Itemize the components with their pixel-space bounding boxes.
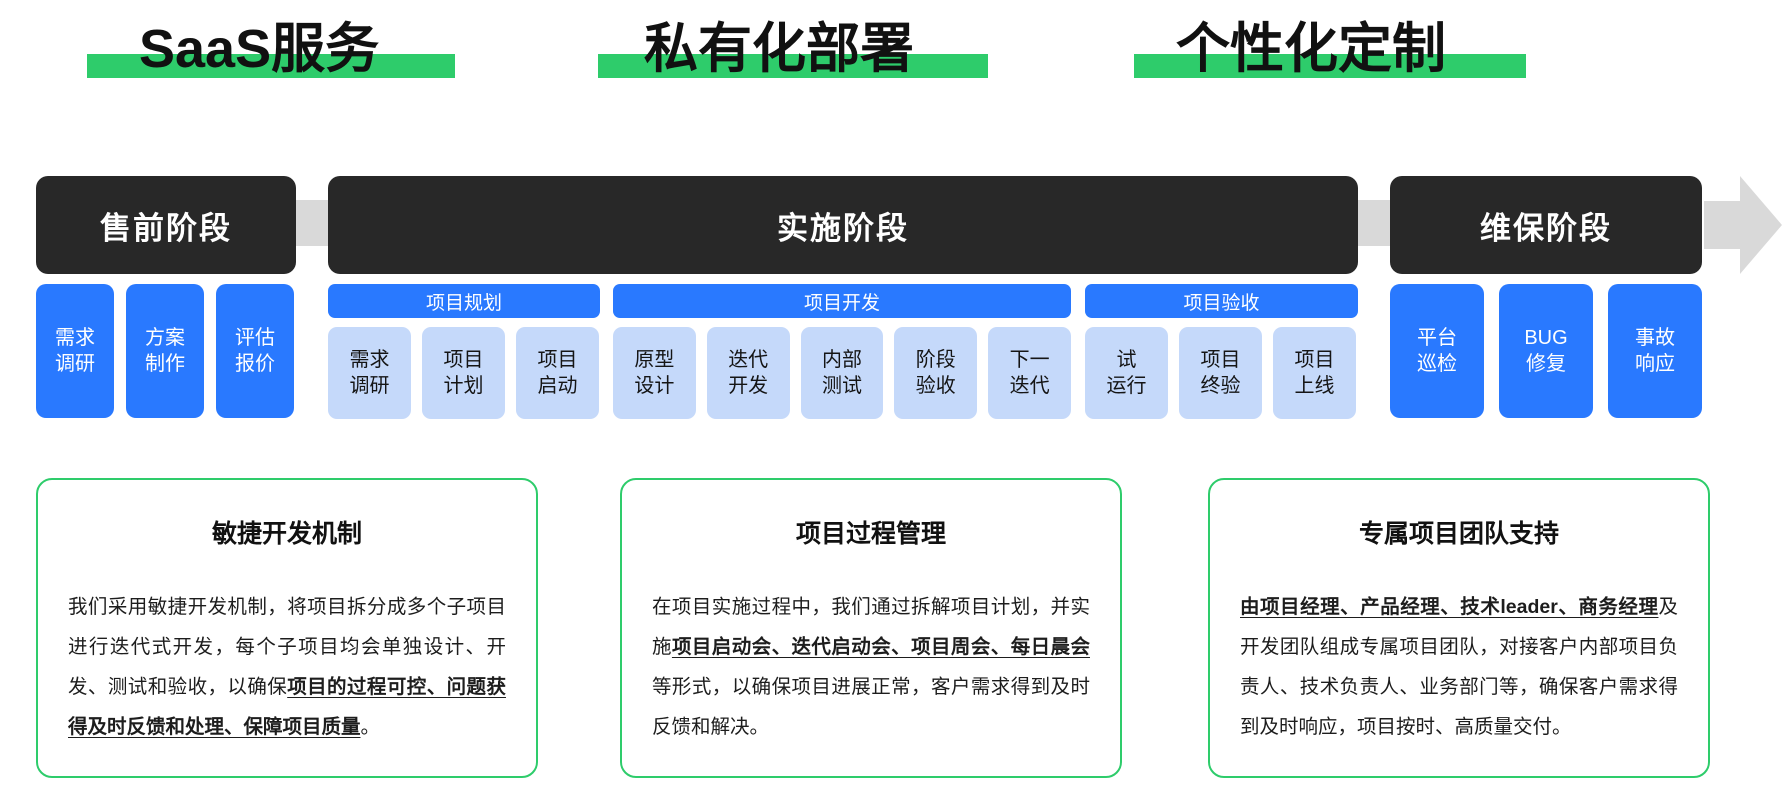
impl-group-planning: 项目规划 需求 调研 项目 计划 项目 启动 bbox=[328, 284, 600, 419]
stage-label-line1: 平台 bbox=[1417, 325, 1457, 351]
phase-band: 售前阶段 实施阶段 维保阶段 bbox=[0, 170, 1792, 280]
stage-label-line2: 响应 bbox=[1635, 351, 1675, 377]
stage-label-line2: 计划 bbox=[444, 373, 484, 399]
stage-label-line1: 迭代 bbox=[728, 347, 768, 373]
impl-stage-box[interactable]: 试 运行 bbox=[1085, 327, 1168, 419]
impl-stage-box[interactable]: 项目 终验 bbox=[1179, 327, 1262, 419]
phase-presales[interactable]: 售前阶段 bbox=[36, 176, 296, 274]
arrow-stem bbox=[1704, 201, 1744, 249]
stage-label-line1: 需求 bbox=[55, 325, 95, 351]
impl-stage-box[interactable]: 项目 启动 bbox=[516, 327, 599, 419]
impl-group-header[interactable]: 项目验收 bbox=[1085, 284, 1358, 318]
impl-group-row: 需求 调研 项目 计划 项目 启动 bbox=[328, 327, 600, 419]
impl-stage-box[interactable]: 迭代 开发 bbox=[707, 327, 790, 419]
heading-customization: 个性化定制 bbox=[1172, 22, 1450, 76]
stages-band: 需求 调研 方案 制作 评估 报价 项目规划 需求 调研 项目 计划 项目 启动 bbox=[0, 284, 1792, 429]
presales-stage-box[interactable]: 评估 报价 bbox=[216, 284, 294, 418]
stage-label-line2: 制作 bbox=[145, 351, 185, 377]
card-body: 我们采用敏捷开发机制，将项目拆分成多个子项目进行迭代式开发，每个子项目均会单独设… bbox=[68, 588, 506, 748]
stage-label-line1: 项目 bbox=[538, 347, 578, 373]
impl-stage-box[interactable]: 下一 迭代 bbox=[988, 327, 1071, 419]
impl-group-title: 项目开发 bbox=[804, 288, 880, 315]
impl-stage-box[interactable]: 需求 调研 bbox=[328, 327, 411, 419]
phase-label: 实施阶段 bbox=[777, 203, 909, 248]
stage-label-line1: 项目 bbox=[1295, 347, 1335, 373]
impl-group-header[interactable]: 项目规划 bbox=[328, 284, 600, 318]
impl-group-title: 项目验收 bbox=[1183, 288, 1259, 315]
maintenance-stage-box[interactable]: BUG 修复 bbox=[1499, 284, 1593, 418]
stage-label-line1: 阶段 bbox=[916, 347, 956, 373]
phase-label: 维保阶段 bbox=[1480, 203, 1612, 248]
stage-label-line2: 运行 bbox=[1107, 373, 1147, 399]
impl-stage-box[interactable]: 原型 设计 bbox=[613, 327, 696, 419]
stage-label-line2: 开发 bbox=[728, 373, 768, 399]
arrow-head bbox=[1740, 176, 1782, 274]
stage-label-line1: 原型 bbox=[634, 347, 674, 373]
stage-label-line1: 事故 bbox=[1635, 325, 1675, 351]
stage-label-line2: 迭代 bbox=[1010, 373, 1050, 399]
stage-label-line1: 评估 bbox=[235, 325, 275, 351]
stage-label-line1: 方案 bbox=[145, 325, 185, 351]
stage-label-line1: 试 bbox=[1117, 347, 1137, 373]
phase-maintenance[interactable]: 维保阶段 bbox=[1390, 176, 1702, 274]
stage-label-line1: 需求 bbox=[350, 347, 390, 373]
maintenance-stage-box[interactable]: 平台 巡检 bbox=[1390, 284, 1484, 418]
stage-label-line2: 巡检 bbox=[1417, 351, 1457, 377]
card-body-emphasis: 项目启动会、迭代启动会、项目周会、每日晨会 bbox=[672, 636, 1090, 658]
impl-stage-box[interactable]: 项目 计划 bbox=[422, 327, 505, 419]
impl-stage-box[interactable]: 内部 测试 bbox=[801, 327, 884, 419]
stage-label-line2: 报价 bbox=[235, 351, 275, 377]
heading-text: 私有化部署 bbox=[640, 22, 918, 76]
card-title: 专属项目团队支持 bbox=[1240, 514, 1678, 550]
stage-label-line1: BUG bbox=[1524, 325, 1567, 351]
card-body: 在项目实施过程中，我们通过拆解项目计划，并实施项目启动会、迭代启动会、项目周会、… bbox=[652, 588, 1090, 748]
feature-card-process: 项目过程管理 在项目实施过程中，我们通过拆解项目计划，并实施项目启动会、迭代启动… bbox=[620, 478, 1122, 778]
heading-saas: SaaS服务 bbox=[135, 22, 383, 76]
card-body-emphasis: 由项目经理、产品经理、技术leader、商务经理 bbox=[1240, 596, 1658, 618]
stage-label-line1: 下一 bbox=[1010, 347, 1050, 373]
stage-label-line1: 项目 bbox=[1201, 347, 1241, 373]
feature-card-agile: 敏捷开发机制 我们采用敏捷开发机制，将项目拆分成多个子项目进行迭代式开发，每个子… bbox=[36, 478, 538, 778]
presales-stage-box[interactable]: 需求 调研 bbox=[36, 284, 114, 418]
stage-label-line1: 项目 bbox=[444, 347, 484, 373]
feature-card-team: 专属项目团队支持 由项目经理、产品经理、技术leader、商务经理及开发团队组成… bbox=[1208, 478, 1710, 778]
phase-implementation[interactable]: 实施阶段 bbox=[328, 176, 1358, 274]
stage-label-line1: 内部 bbox=[822, 347, 862, 373]
timeline-arrow-icon bbox=[1704, 176, 1780, 274]
stage-label-line2: 启动 bbox=[538, 373, 578, 399]
maintenance-stage-box[interactable]: 事故 响应 bbox=[1608, 284, 1702, 418]
headings-row: SaaS服务 私有化部署 个性化定制 bbox=[0, 0, 1792, 118]
card-body-text: 。 bbox=[361, 716, 381, 738]
impl-group-acceptance: 项目验收 试 运行 项目 终验 项目 上线 bbox=[1085, 284, 1358, 419]
card-body: 由项目经理、产品经理、技术leader、商务经理及开发团队组成专属项目团队，对接… bbox=[1240, 588, 1678, 748]
impl-group-row: 原型 设计 迭代 开发 内部 测试 阶段 验收 下一 迭代 bbox=[613, 327, 1071, 419]
heading-text: SaaS服务 bbox=[135, 22, 383, 76]
impl-group-title: 项目规划 bbox=[426, 288, 502, 315]
card-title: 敏捷开发机制 bbox=[68, 514, 506, 550]
heading-private-deploy: 私有化部署 bbox=[640, 22, 918, 76]
stage-label-line2: 修复 bbox=[1526, 351, 1566, 377]
impl-group-row: 试 运行 项目 终验 项目 上线 bbox=[1085, 327, 1358, 419]
stage-label-line2: 上线 bbox=[1295, 373, 1335, 399]
phase-label: 售前阶段 bbox=[100, 203, 232, 248]
stage-label-line2: 调研 bbox=[55, 351, 95, 377]
heading-text: 个性化定制 bbox=[1172, 22, 1450, 76]
stage-label-line2: 设计 bbox=[634, 373, 674, 399]
feature-cards: 敏捷开发机制 我们采用敏捷开发机制，将项目拆分成多个子项目进行迭代式开发，每个子… bbox=[0, 478, 1792, 788]
stage-label-line2: 调研 bbox=[350, 373, 390, 399]
impl-group-header[interactable]: 项目开发 bbox=[613, 284, 1071, 318]
stage-label-line2: 终验 bbox=[1201, 373, 1241, 399]
presales-stage-box[interactable]: 方案 制作 bbox=[126, 284, 204, 418]
card-title: 项目过程管理 bbox=[652, 514, 1090, 550]
card-body-text: 等形式，以确保项目进展正常，客户需求得到及时反馈和解决。 bbox=[652, 676, 1090, 738]
stage-label-line2: 测试 bbox=[822, 373, 862, 399]
impl-stage-box[interactable]: 阶段 验收 bbox=[894, 327, 977, 419]
impl-stage-box[interactable]: 项目 上线 bbox=[1273, 327, 1356, 419]
impl-group-development: 项目开发 原型 设计 迭代 开发 内部 测试 阶段 验收 下一 迭代 bbox=[613, 284, 1071, 419]
stage-label-line2: 验收 bbox=[916, 373, 956, 399]
